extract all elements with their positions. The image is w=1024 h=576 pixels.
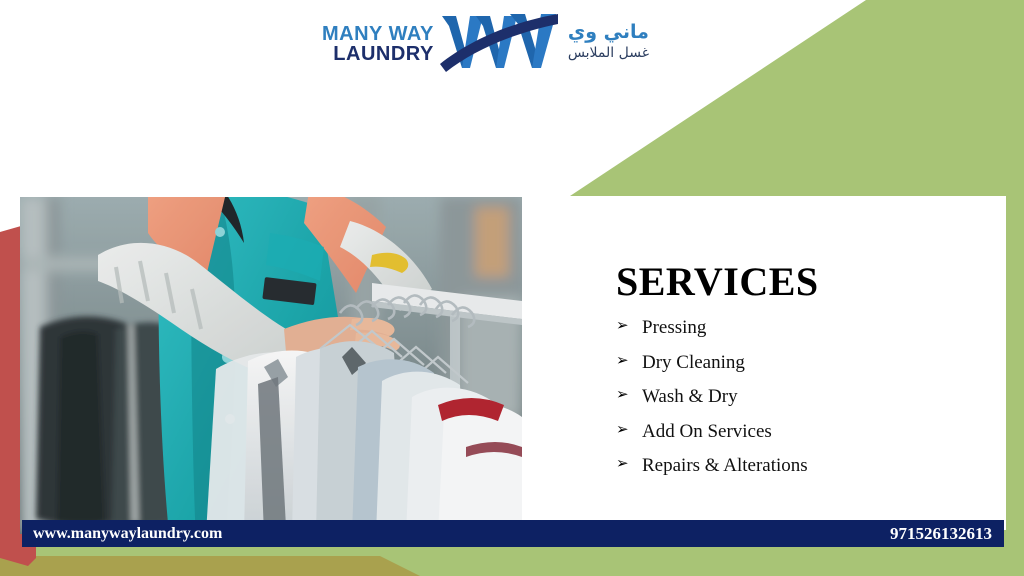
list-item[interactable]: ➢ Pressing: [616, 318, 976, 337]
arrow-bullet-icon: ➢: [616, 387, 629, 402]
footer-bar: www.manywaylaundry.com 971526132613: [22, 520, 1004, 547]
arrow-bullet-icon: ➢: [616, 456, 629, 471]
services-section: SERVICES ➢ Pressing ➢ Dry Cleaning ➢ Was…: [616, 262, 976, 491]
slide-canvas: MANY WAY LAUNDRY: [0, 0, 1024, 576]
list-item[interactable]: ➢ Repairs & Alterations: [616, 456, 976, 475]
list-item-label: Add On Services: [642, 421, 772, 442]
footer-website-link[interactable]: www.manywaylaundry.com: [33, 525, 222, 543]
logo-wordmark: MANY WAY LAUNDRY: [322, 24, 434, 65]
arrow-bullet-icon: ➢: [616, 353, 629, 368]
services-list: ➢ Pressing ➢ Dry Cleaning ➢ Wash & Dry ➢…: [616, 318, 976, 475]
list-item-label: Pressing: [642, 317, 706, 338]
list-item-label: Wash & Dry: [642, 386, 738, 407]
logo-arabic-text: ماني وي غسل الملابس: [568, 21, 649, 62]
list-item[interactable]: ➢ Dry Cleaning: [616, 353, 976, 372]
mww-monogram-icon: [440, 10, 560, 74]
brand-logo: MANY WAY LAUNDRY: [322, 6, 712, 78]
services-title: SERVICES: [616, 262, 976, 302]
slide-header: MANY WAY LAUNDRY: [0, 0, 1024, 92]
list-item-label: Dry Cleaning: [642, 352, 745, 373]
logo-wordmark-line2: LAUNDRY: [333, 44, 434, 64]
logo-arabic-line2: غسل الملابس: [568, 45, 649, 63]
arrow-bullet-icon: ➢: [616, 318, 629, 333]
arrow-bullet-icon: ➢: [616, 422, 629, 437]
list-item[interactable]: ➢ Add On Services: [616, 422, 976, 441]
list-item[interactable]: ➢ Wash & Dry: [616, 387, 976, 406]
list-item-label: Repairs & Alterations: [642, 455, 808, 476]
footer-phone-number[interactable]: 971526132613: [890, 524, 992, 544]
laundry-photo: [20, 197, 522, 534]
logo-arabic-line1: ماني وي: [568, 21, 649, 45]
logo-wordmark-line1: MANY WAY: [322, 24, 434, 44]
olive-bottom-wedge: [0, 556, 420, 576]
